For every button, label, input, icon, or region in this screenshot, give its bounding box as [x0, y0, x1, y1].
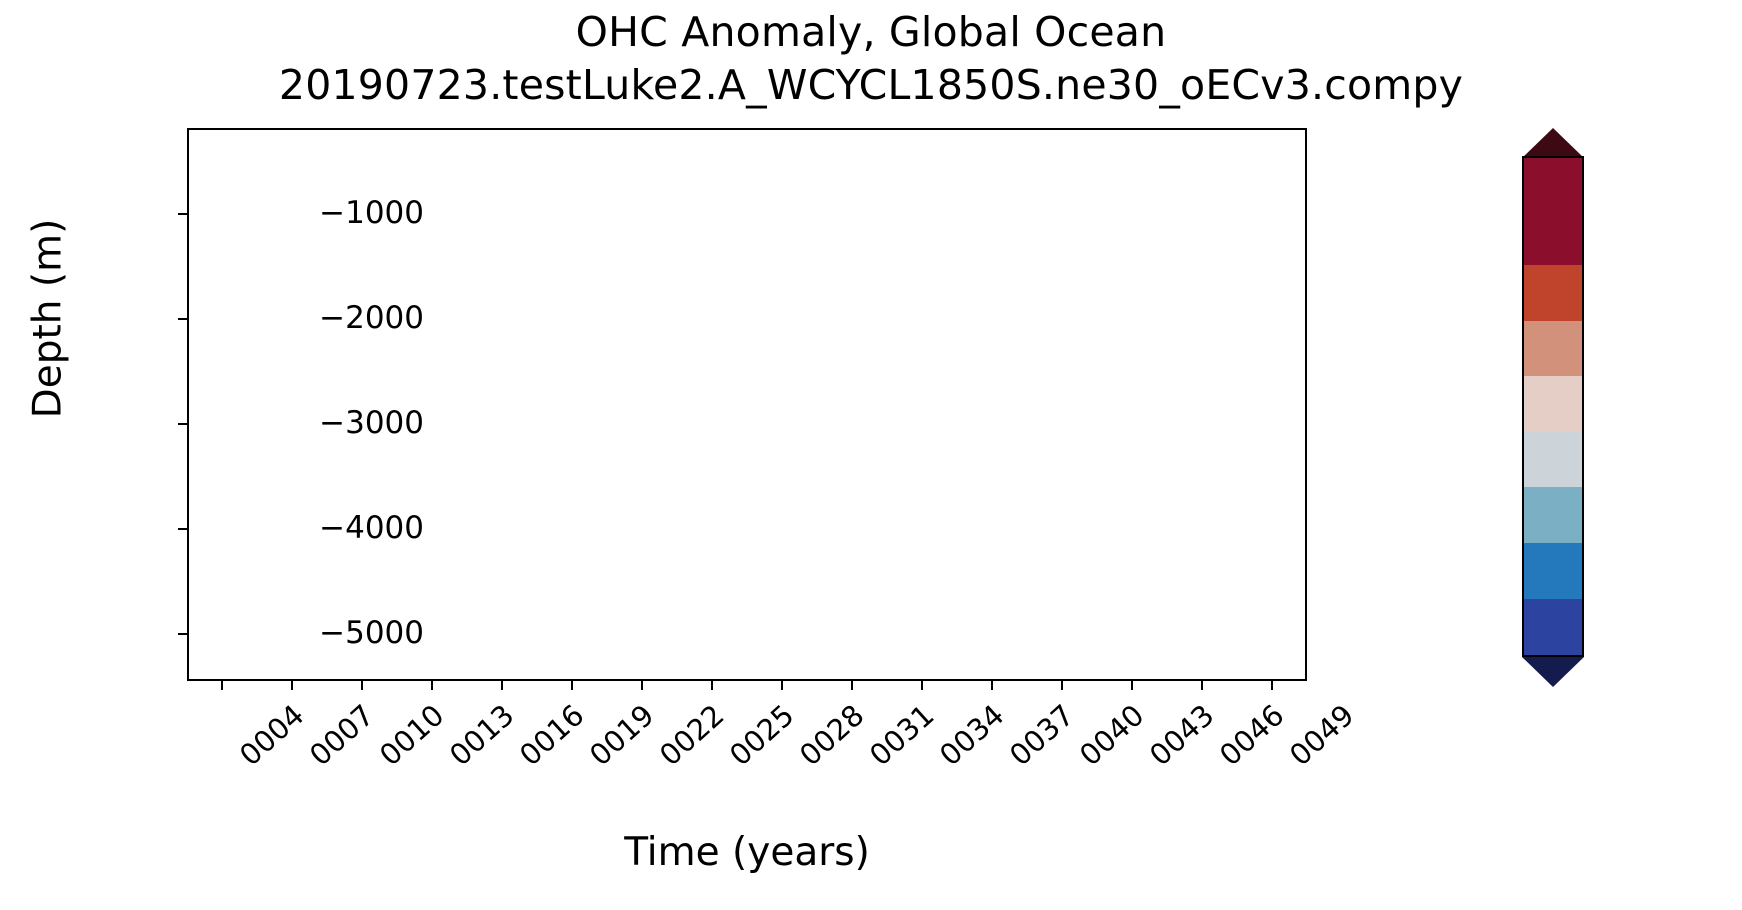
- x-tick-label: 0037: [1005, 700, 1079, 771]
- x-tick-label: 0016: [515, 700, 589, 771]
- y-tick-mark: [178, 633, 187, 635]
- x-tick-label: 0049: [1285, 700, 1359, 771]
- x-tick-label: 0028: [795, 700, 869, 771]
- x-tick-mark: [1271, 681, 1273, 690]
- x-tick-label: 0025: [725, 700, 799, 771]
- x-tick-label: 0019: [585, 700, 659, 771]
- x-tick-label: 0004: [235, 700, 309, 771]
- x-axis-label: Time (years): [187, 830, 1307, 875]
- x-tick-mark: [571, 681, 573, 690]
- y-tick-label: −5000: [184, 618, 424, 649]
- x-tick-label: 0040: [1075, 700, 1149, 771]
- x-tick-mark: [641, 681, 643, 690]
- colorbar-segment: [1524, 599, 1582, 655]
- x-tick-label: 0013: [445, 700, 519, 771]
- x-tick-mark: [291, 681, 293, 690]
- y-tick-mark: [178, 213, 187, 215]
- colorbar-extend-bottom-arrow: [1522, 657, 1584, 687]
- y-tick-label: −3000: [184, 408, 424, 439]
- x-tick-label: 0034: [935, 700, 1009, 771]
- x-tick-label: 0010: [375, 700, 449, 771]
- page-title: OHC Anomaly, Global Ocean: [0, 6, 1742, 58]
- colorbar-segment: [1524, 487, 1582, 543]
- x-tick-label: 0046: [1215, 700, 1289, 771]
- page-subtitle: 20190723.testLuke2.A_WCYCL1850S.ne30_oEC…: [0, 58, 1742, 112]
- x-tick-mark: [1201, 681, 1203, 690]
- colorbar-segment: [1524, 543, 1582, 599]
- y-axis-label: Depth (m): [26, 39, 71, 599]
- x-tick-mark: [1061, 681, 1063, 690]
- x-tick-mark: [501, 681, 503, 690]
- colorbar-segment: [1524, 265, 1582, 321]
- y-tick-mark: [178, 528, 187, 530]
- x-tick-mark: [851, 681, 853, 690]
- x-tick-mark: [1131, 681, 1133, 690]
- colorbar-gradient: [1522, 156, 1584, 657]
- y-tick-label: −1000: [184, 198, 424, 229]
- x-tick-mark: [991, 681, 993, 690]
- x-tick-label: 0043: [1145, 700, 1219, 771]
- y-tick-label: −4000: [184, 513, 424, 544]
- x-tick-label: 0031: [865, 700, 939, 771]
- x-tick-label: 0022: [655, 700, 729, 771]
- x-tick-mark: [711, 681, 713, 690]
- x-tick-mark: [431, 681, 433, 690]
- x-tick-mark: [781, 681, 783, 690]
- colorbar-extend-top-arrow: [1522, 128, 1584, 158]
- x-tick-mark: [221, 681, 223, 690]
- x-tick-label: 0007: [305, 700, 379, 771]
- colorbar-segment: [1524, 321, 1582, 377]
- colorbar-segment: [1524, 158, 1582, 265]
- colorbar-segment: [1524, 432, 1582, 488]
- colorbar-segment: [1524, 376, 1582, 432]
- y-tick-label: −2000: [184, 303, 424, 334]
- y-tick-mark: [178, 423, 187, 425]
- x-tick-mark: [921, 681, 923, 690]
- y-tick-mark: [178, 318, 187, 320]
- title-block: OHC Anomaly, Global Ocean 20190723.testL…: [0, 6, 1742, 112]
- x-tick-mark: [361, 681, 363, 690]
- colorbar: [1522, 128, 1742, 688]
